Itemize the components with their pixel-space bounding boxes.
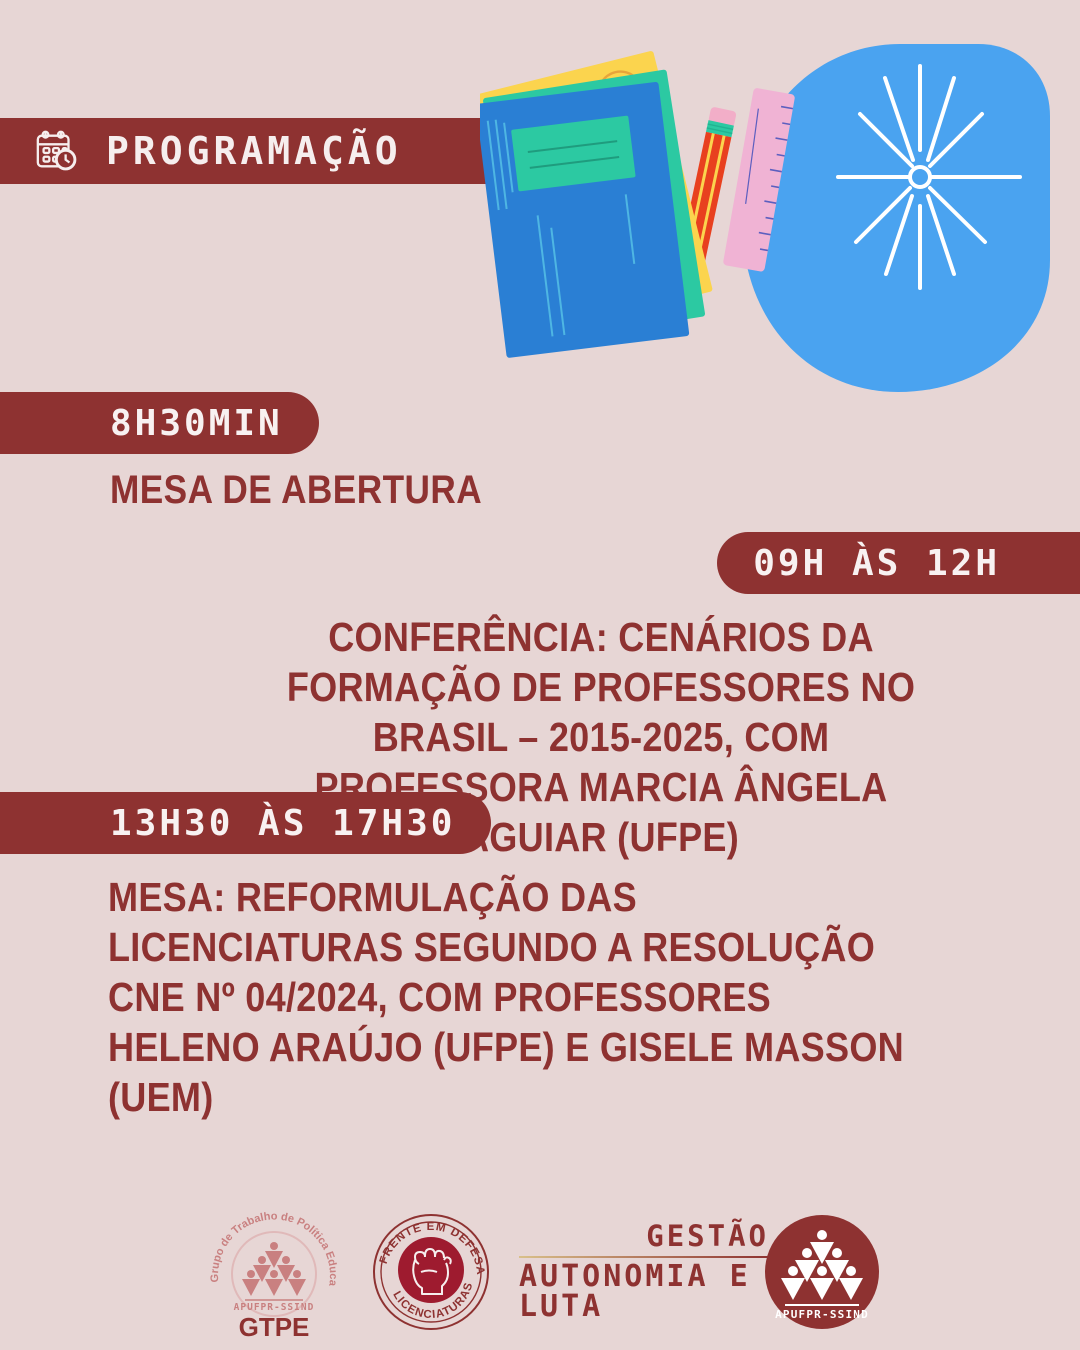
logo-gtpe: Grupo de Trabalho de Política Educaciona…: [199, 1202, 349, 1342]
logo-apufpr-inner-text: APUFPR-SSIND: [775, 1308, 869, 1321]
time-label: 8H30MIN: [110, 403, 283, 444]
gestao-block: GESTÃO AUTONOMIA E LUTA APUFPR-SSIND: [519, 1213, 881, 1331]
blue-blob: [742, 44, 1050, 392]
logo-frente-licenciaturas: FRENTE EM DEFESA DAS LICENCIATURAS: [371, 1212, 491, 1332]
calendar-clock-icon: [34, 128, 80, 174]
yellow-paper-icon: [480, 50, 713, 335]
time-pill-slot-1: 8H30MIN: [0, 392, 319, 454]
gestao-divider: [519, 1256, 769, 1258]
time-pill-slot-3: 13H30 ÀS 17H30: [0, 792, 491, 854]
description-slot-3: MESA: REFORMULAÇÃO DAS LICENCIATURAS SEG…: [108, 872, 926, 1122]
starburst-icon: [838, 66, 1020, 288]
page-title: PROGRAMAÇÃO: [106, 129, 402, 173]
time-label: 13H30 ÀS 17H30: [110, 803, 455, 844]
logo-apufpr-ssind: APUFPR-SSIND: [763, 1213, 881, 1331]
notebook-icon: [480, 82, 689, 359]
footer-logos: Grupo de Trabalho de Política Educaciona…: [0, 1202, 1080, 1342]
description-slot-1: MESA DE ABERTURA: [110, 466, 482, 515]
logo-gtpe-arc-text: Grupo de Trabalho de Política Educaciona…: [199, 1202, 339, 1288]
study-supplies-illustration: [480, 10, 1080, 410]
ruler-icon: [723, 88, 796, 273]
time-pill-slot-2: 09H ÀS 12H: [717, 532, 1080, 594]
people-pyramid-icon: [242, 1242, 306, 1296]
gestao-line1: GESTÃO: [646, 1222, 769, 1251]
time-label: 09H ÀS 12H: [753, 543, 1000, 584]
pencil-icon: [672, 106, 737, 295]
logo-gtpe-acronym: GTPE: [239, 1312, 310, 1342]
notebook-teal-edge: [483, 69, 706, 345]
gestao-line2: AUTONOMIA E LUTA: [519, 1262, 769, 1322]
svg-text:Grupo de Trabalho de Política: Grupo de Trabalho de Política Educaciona…: [199, 1202, 339, 1288]
header-banner: PROGRAMAÇÃO: [0, 118, 510, 184]
